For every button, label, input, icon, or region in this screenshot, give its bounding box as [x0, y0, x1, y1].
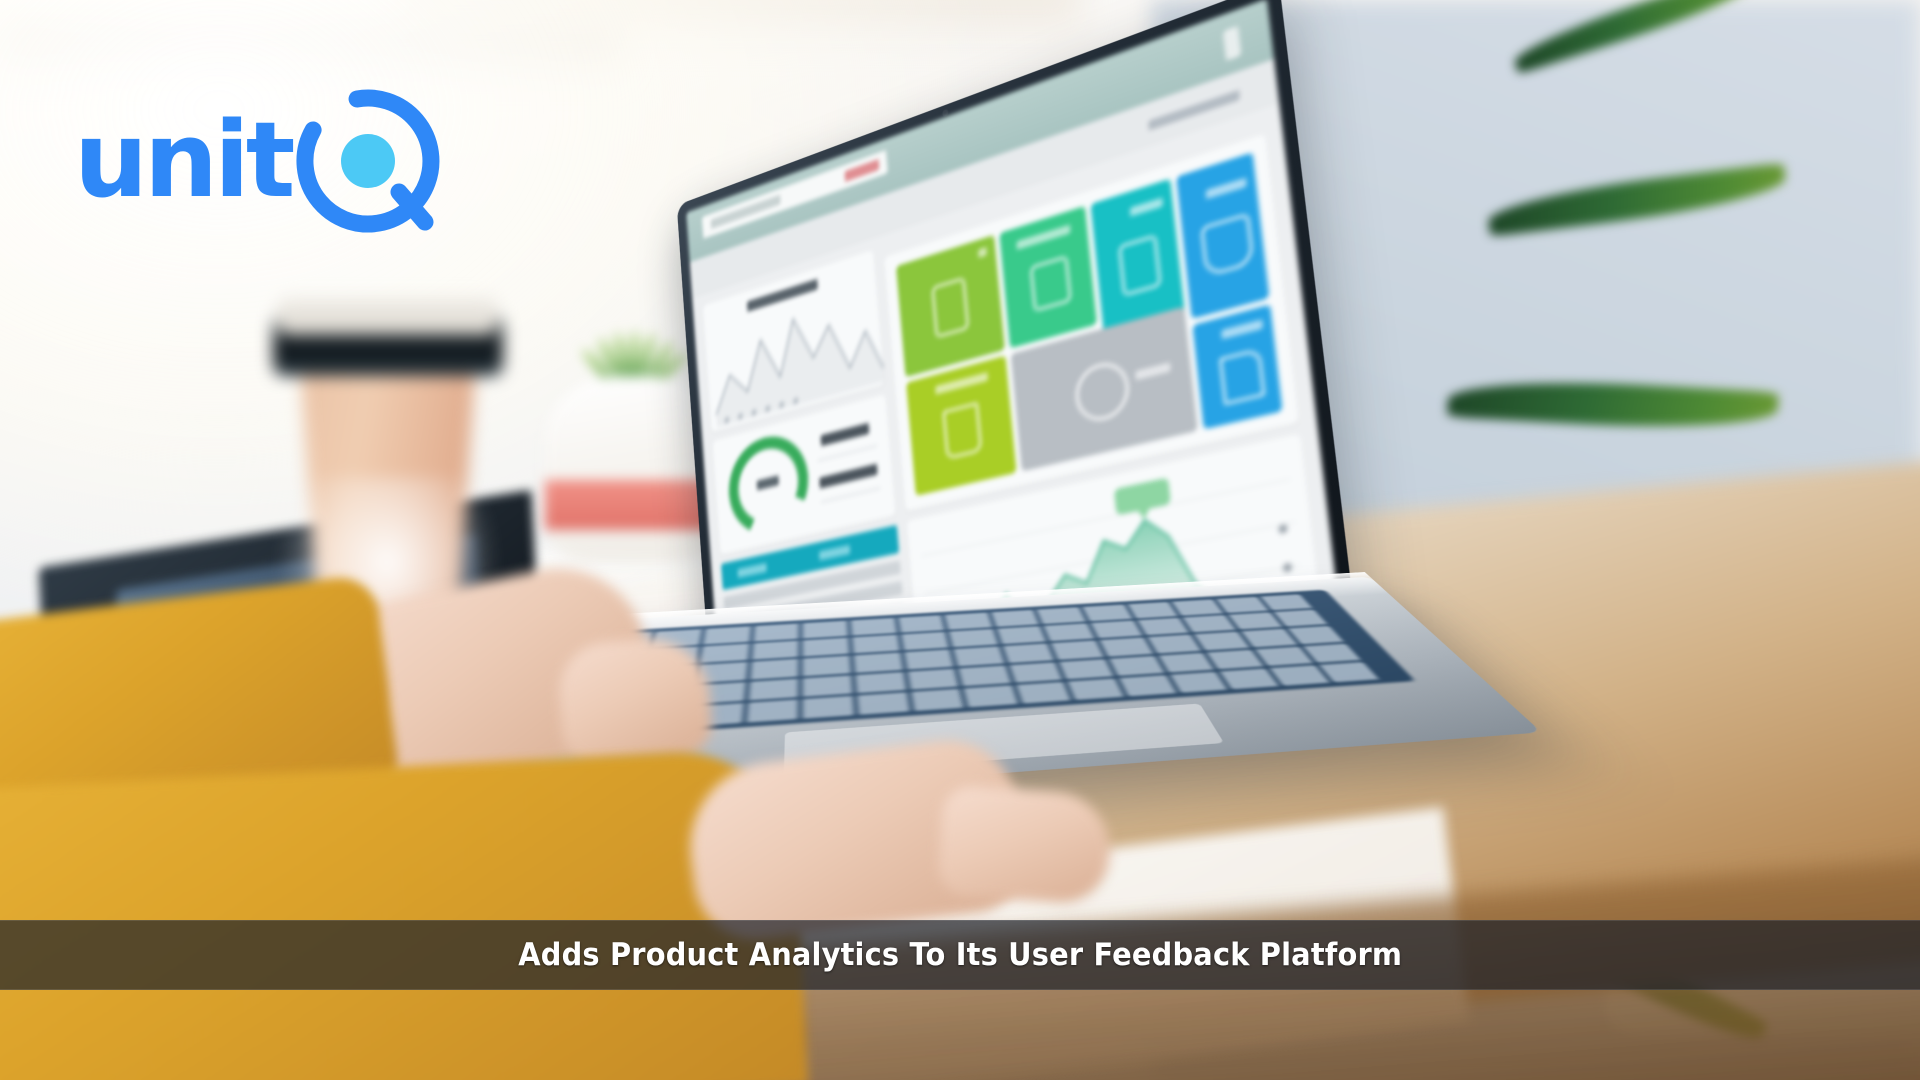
q-mark-svg	[295, 88, 441, 234]
shield-icon	[1200, 213, 1255, 278]
lock-icon	[1118, 234, 1162, 297]
tile-label	[1135, 362, 1171, 380]
tile-label	[935, 372, 988, 395]
plant-leaf	[1485, 162, 1787, 236]
kpi-divider-1	[818, 445, 877, 462]
left-hand-fingers	[556, 635, 714, 765]
document-icon	[931, 277, 969, 339]
laptop	[640, 70, 1400, 830]
hero-image: unit Adds Product Analytics To Its User …	[0, 0, 1920, 1080]
chart-icon	[1030, 255, 1072, 312]
caption-bar: Adds Product Analytics To Its User Feedb…	[0, 920, 1920, 990]
unitq-logo: unit	[74, 88, 441, 234]
tile-label	[1221, 319, 1263, 339]
tile-lime[interactable]	[906, 356, 1017, 496]
action-button-label-2	[819, 545, 851, 561]
pie-icon	[1073, 357, 1131, 426]
yellow-sweater-body	[0, 746, 808, 1080]
tile-mint[interactable]	[999, 206, 1097, 348]
tile-label	[1205, 178, 1247, 200]
q-target-mark	[295, 88, 441, 234]
kpi-label-2	[819, 464, 878, 489]
kpi-divider-2	[821, 487, 881, 503]
avatar[interactable]	[1223, 26, 1242, 61]
kpi-label-1	[820, 423, 869, 446]
search-placeholder-text	[711, 195, 781, 229]
bag-icon	[942, 402, 982, 460]
tile-blue-1[interactable]	[1176, 152, 1269, 319]
logo-wordmark: unit	[74, 118, 291, 203]
plant-leaf	[1447, 375, 1779, 434]
caption-text: Adds Product Analytics To Its User Feedb…	[518, 937, 1402, 973]
coffee-cup-lid-top	[277, 297, 498, 335]
plant-leaf	[1509, 0, 1766, 74]
tile-label	[1130, 198, 1164, 217]
search-button[interactable]	[844, 159, 879, 182]
tile-green-1[interactable]	[896, 235, 1005, 377]
tile-label	[978, 247, 987, 258]
tile-label	[1016, 225, 1070, 250]
action-button-label-1	[737, 563, 767, 578]
cursor-icon	[1219, 348, 1266, 406]
tile-blue-2[interactable]	[1192, 304, 1282, 429]
